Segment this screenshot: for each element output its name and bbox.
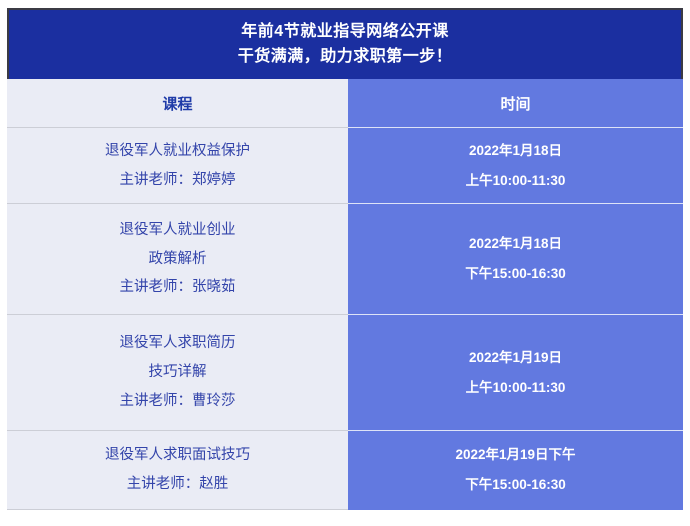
banner-title-line-1: 年前4节就业指导网络公开课 xyxy=(241,23,448,41)
table-row: 退役军人求职面试技巧 主讲老师：赵胜 2022年1月19日下午 下午15:00-… xyxy=(7,431,683,510)
time-range-line: 下午15:00-16:30 xyxy=(465,266,566,282)
time-range-line: 下午15:00-16:30 xyxy=(465,477,566,493)
time-date-line: 2022年1月18日 xyxy=(469,236,562,252)
table-header-row: 课程 时间 xyxy=(7,79,683,128)
course-instructor-line: 主讲老师：张晓茹 xyxy=(120,279,236,296)
course-instructor-line: 主讲老师：曹玲莎 xyxy=(120,393,236,410)
course-line: 退役军人求职面试技巧 xyxy=(105,447,250,464)
course-instructor-line: 主讲老师：郑婷婷 xyxy=(120,172,236,189)
course-instructor-line: 主讲老师：赵胜 xyxy=(127,476,229,493)
course-line: 技巧详解 xyxy=(149,364,207,381)
course-cell: 退役军人就业权益保护 主讲老师：郑婷婷 xyxy=(7,128,348,204)
course-line: 政策解析 xyxy=(149,251,207,268)
time-cell: 2022年1月18日 上午10:00-11:30 xyxy=(348,128,683,204)
schedule-table-body: 课程 时间 退役军人就业权益保护 主讲老师：郑婷婷 2022年1月18日 上午1… xyxy=(7,79,683,510)
time-cell: 2022年1月19日下午 下午15:00-16:30 xyxy=(348,431,683,510)
column-header-time: 时间 xyxy=(348,79,683,128)
course-cell: 退役军人求职简历 技巧详解 主讲老师：曹玲莎 xyxy=(7,315,348,431)
time-date-line: 2022年1月18日 xyxy=(469,143,562,159)
course-schedule-card: 年前4节就业指导网络公开课 干货满满，助力求职第一步！ 课程 时间 退役军人就业… xyxy=(7,8,683,510)
schedule-table: 课程 时间 退役军人就业权益保护 主讲老师：郑婷婷 2022年1月18日 上午1… xyxy=(7,79,683,510)
table-row: 退役军人就业创业 政策解析 主讲老师：张晓茹 2022年1月18日 下午15:0… xyxy=(7,204,683,315)
column-header-course: 课程 xyxy=(7,79,348,128)
course-line: 退役军人就业创业 xyxy=(120,222,236,239)
table-row: 退役军人求职简历 技巧详解 主讲老师：曹玲莎 2022年1月19日 上午10:0… xyxy=(7,315,683,431)
time-cell: 2022年1月19日 上午10:00-11:30 xyxy=(348,315,683,431)
course-line: 退役军人就业权益保护 xyxy=(105,143,250,160)
course-cell: 退役军人就业创业 政策解析 主讲老师：张晓茹 xyxy=(7,204,348,315)
time-range-line: 上午10:00-11:30 xyxy=(466,173,566,189)
table-row: 退役军人就业权益保护 主讲老师：郑婷婷 2022年1月18日 上午10:00-1… xyxy=(7,128,683,204)
banner-title-line-2: 干货满满，助力求职第一步！ xyxy=(238,48,453,66)
time-cell: 2022年1月18日 下午15:00-16:30 xyxy=(348,204,683,315)
time-range-line: 上午10:00-11:30 xyxy=(466,380,566,396)
time-date-line: 2022年1月19日 xyxy=(469,350,562,366)
banner-title: 年前4节就业指导网络公开课 干货满满，助力求职第一步！ xyxy=(7,8,683,79)
time-date-line: 2022年1月19日下午 xyxy=(455,447,575,463)
course-cell: 退役军人求职面试技巧 主讲老师：赵胜 xyxy=(7,431,348,510)
course-line: 退役军人求职简历 xyxy=(120,335,236,352)
